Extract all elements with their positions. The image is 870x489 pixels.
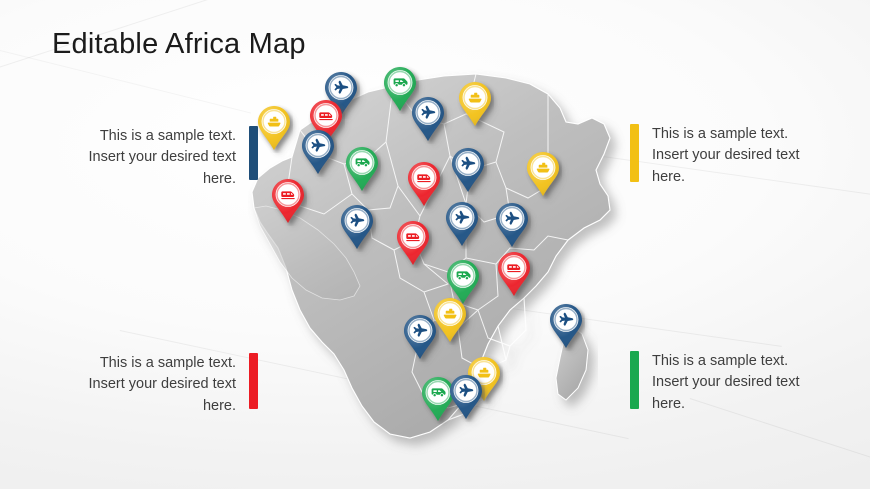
callout-text: This is a sample text. Insert your desir…	[60, 126, 236, 190]
callout-line: This is a sample text.	[60, 126, 236, 147]
callout-text: This is a sample text. Insert your desir…	[652, 351, 828, 415]
callout-line: here.	[60, 169, 236, 190]
map-pin-airplane[interactable]	[338, 202, 376, 252]
callout-accent-bar	[630, 124, 639, 182]
map-pin-ship[interactable]	[456, 79, 494, 129]
callout-bottom-right[interactable]: This is a sample text. Insert your desir…	[630, 351, 828, 415]
map-pin-airplane[interactable]	[447, 372, 485, 422]
map-pin-airplane[interactable]	[493, 200, 531, 250]
callout-accent-bar	[249, 353, 258, 409]
map-pin-ship[interactable]	[255, 103, 293, 153]
callout-text: This is a sample text. Insert your desir…	[652, 124, 828, 188]
map-pin-train[interactable]	[405, 159, 443, 209]
slide-canvas: Editable Africa Map	[0, 0, 870, 489]
map-pin-airplane[interactable]	[401, 312, 439, 362]
callout-line: Insert your desired text	[60, 147, 236, 168]
callout-line: here.	[652, 394, 828, 415]
callout-accent-bar	[630, 351, 639, 409]
slide-title: Editable Africa Map	[52, 28, 306, 61]
map-pin-ship[interactable]	[524, 149, 562, 199]
callout-top-left[interactable]: This is a sample text. Insert your desir…	[60, 126, 258, 190]
map-pin-train[interactable]	[269, 176, 307, 226]
map-pin-airplane[interactable]	[299, 127, 337, 177]
callout-line: Insert your desired text	[652, 145, 828, 166]
map-pin-train[interactable]	[495, 249, 533, 299]
callout-line: here.	[652, 167, 828, 188]
map-pin-airplane[interactable]	[547, 301, 585, 351]
callout-line: This is a sample text.	[652, 351, 828, 372]
callout-line: This is a sample text.	[652, 124, 828, 145]
callout-text: This is a sample text. Insert your desir…	[60, 353, 236, 417]
map-pin-bus[interactable]	[343, 144, 381, 194]
africa-map[interactable]	[248, 58, 638, 463]
map-pin-train[interactable]	[394, 218, 432, 268]
callout-line: This is a sample text.	[60, 353, 236, 374]
callout-line: Insert your desired text	[652, 372, 828, 393]
callout-bottom-left[interactable]: This is a sample text. Insert your desir…	[60, 353, 258, 417]
callout-line: Insert your desired text	[60, 374, 236, 395]
map-pin-airplane[interactable]	[409, 94, 447, 144]
map-pin-airplane[interactable]	[449, 145, 487, 195]
callout-line: here.	[60, 396, 236, 417]
map-pin-airplane[interactable]	[443, 199, 481, 249]
callout-top-right[interactable]: This is a sample text. Insert your desir…	[630, 124, 828, 188]
